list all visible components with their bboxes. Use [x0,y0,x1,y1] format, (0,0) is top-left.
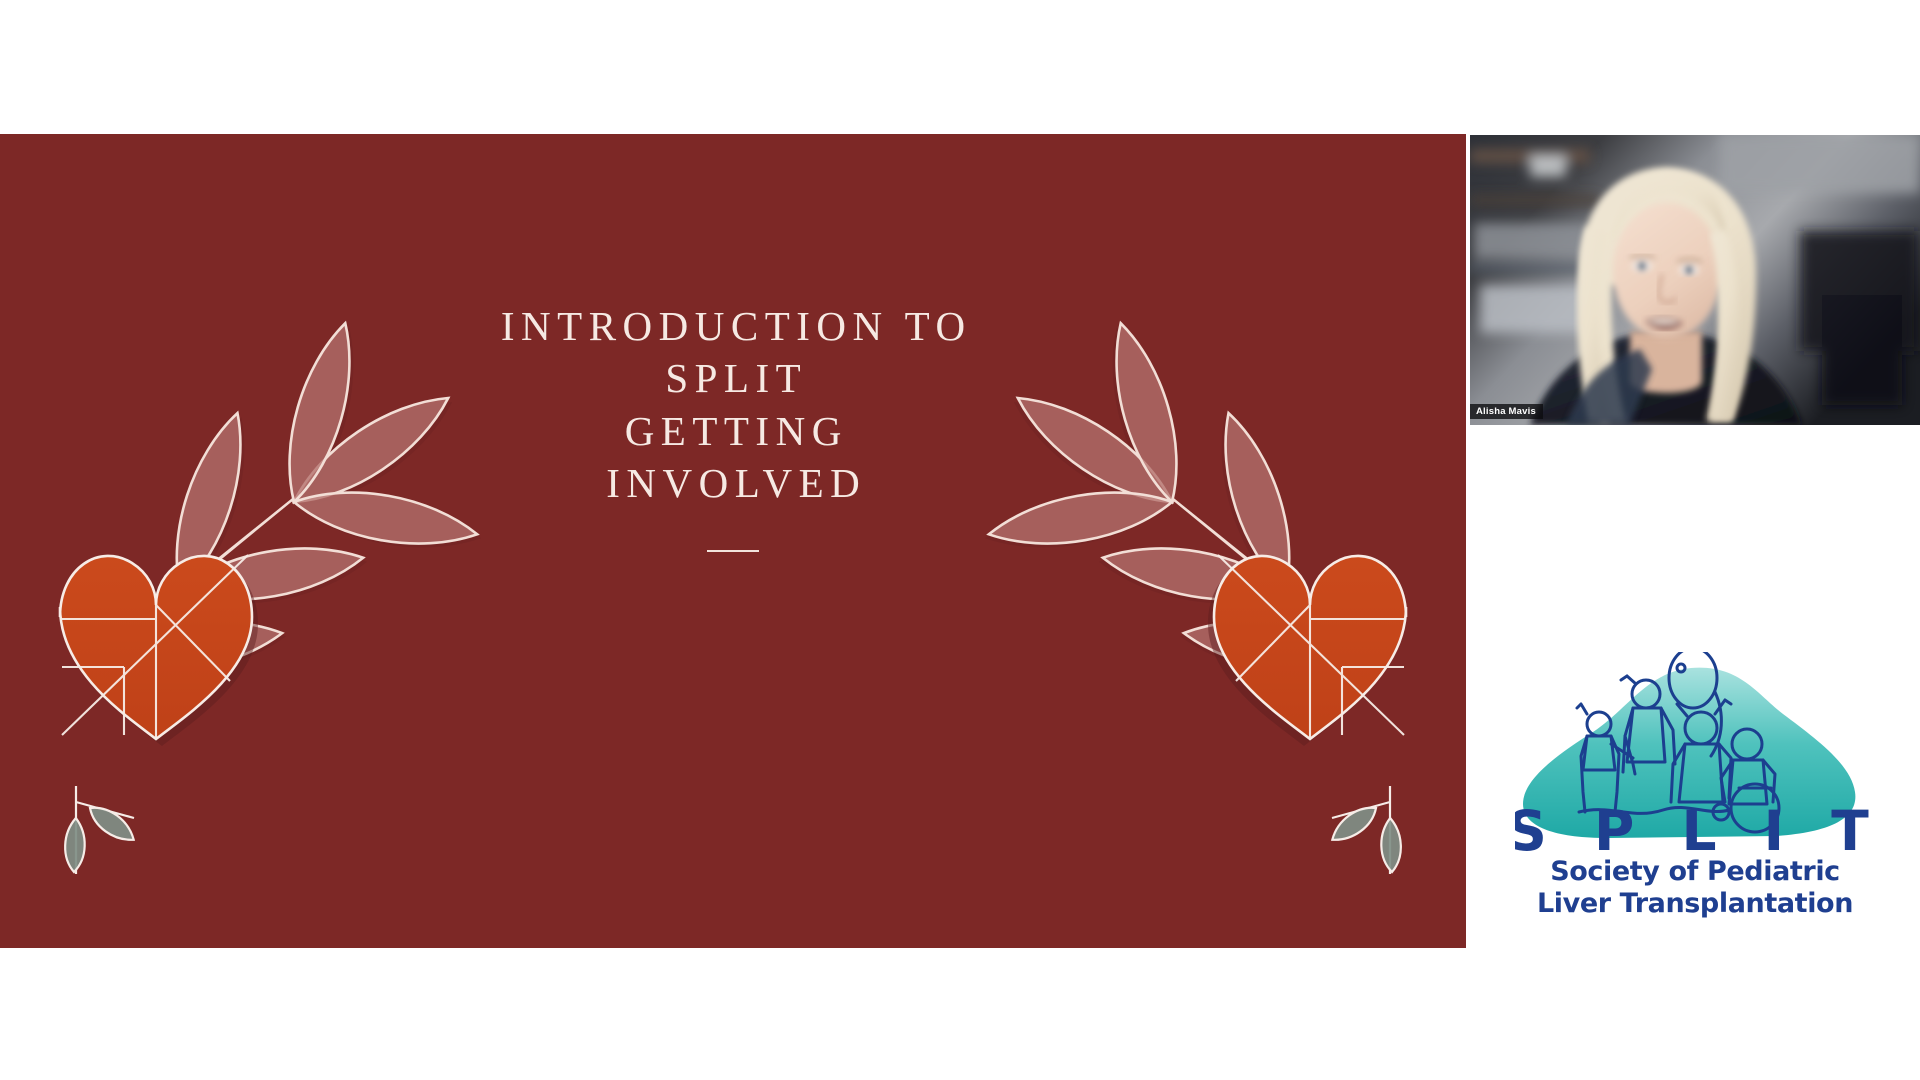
webcam-video-tile[interactable]: Alisha Mavis [1470,135,1920,425]
slide-title-line-2: SPLIT [373,352,1093,404]
slide-title-block: INTRODUCTION TO SPLIT GETTING INVOLVED [373,300,1093,552]
screen-share-stage: INTRODUCTION TO SPLIT GETTING INVOLVED [0,0,1920,1080]
split-logo-mark-icon: S P L I T [1515,652,1875,852]
webcam-video-frame [1470,135,1920,425]
slide-title-line-3: GETTING [373,405,1093,457]
participant-name-label: Alisha Mavis [1470,404,1543,420]
split-logo-panel: S P L I T Society of Pediatric Liver Tra… [1470,430,1920,1080]
slide-title-line-4: INVOLVED [373,457,1093,509]
sage-sprig-right [1327,786,1402,874]
geometric-heart-left [60,555,258,746]
split-wordmark: S P L I T [1515,799,1875,852]
presentation-slide[interactable]: INTRODUCTION TO SPLIT GETTING INVOLVED [0,134,1466,948]
tagline-line-1: Society of Pediatric [1515,856,1875,888]
sage-sprig-left [64,786,139,874]
split-logo: S P L I T Society of Pediatric Liver Tra… [1515,652,1875,920]
title-divider [707,550,759,552]
geometric-heart-right [1208,555,1406,746]
split-logo-tagline: Society of Pediatric Liver Transplantati… [1515,856,1875,920]
tagline-line-2: Liver Transplantation [1515,888,1875,920]
slide-title-line-1: INTRODUCTION TO [373,300,1093,352]
